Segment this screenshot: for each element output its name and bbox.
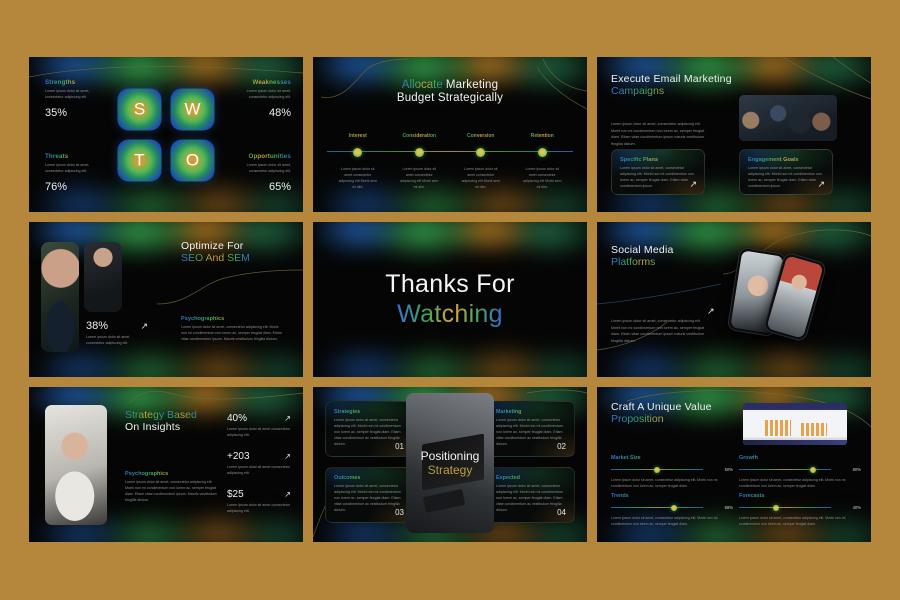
- timeline-body: Lorem ipsum dolor sit amet consectetur a…: [450, 167, 512, 191]
- title-line1: Optimize For: [181, 240, 250, 252]
- timeline-dot[interactable]: [389, 144, 451, 160]
- slider-trends[interactable]: Trends 68% Lorem ipsum dolor sit amet, c…: [611, 493, 733, 528]
- timeline-body: Lorem ipsum dolor sit amet consectetur a…: [389, 167, 451, 191]
- title-plain: Marketing: [446, 79, 498, 91]
- meeting-photo: [739, 95, 837, 141]
- arrow-up-right-icon[interactable]: ↗: [689, 180, 697, 189]
- title-line2: On Insights: [125, 421, 197, 433]
- slide-body-text: Lorem ipsum dolor sit amet, consectetur …: [611, 121, 709, 148]
- slider-label: Market Size: [611, 455, 733, 461]
- swot-label: Strengths: [45, 79, 105, 86]
- slide-swot[interactable]: Strengths Lorem ipsum dolor sit amet, co…: [29, 57, 303, 212]
- card-engagement-goals[interactable]: Engagement Goals Lorem ipsum dolor sit a…: [739, 149, 833, 195]
- slider-track[interactable]: 80%: [739, 465, 861, 474]
- center-line2: Strategy: [313, 463, 587, 477]
- timeline-dots: [327, 144, 573, 160]
- card-title: Marketing: [496, 409, 566, 415]
- slider-label: Trends: [611, 493, 733, 499]
- swot-percent: 76%: [45, 181, 105, 193]
- swot-letter: W: [184, 99, 200, 119]
- portrait-photo: [45, 405, 107, 525]
- swot-tile-t: T: [118, 139, 162, 181]
- slider-body: Lorem ipsum dolor sit amet, consectetur …: [611, 516, 733, 528]
- card-title: Specific Plans: [620, 157, 696, 163]
- card-body: Lorem ipsum dolor sit amet, consectetur …: [748, 166, 824, 190]
- slide-deck-grid: Strengths Lorem ipsum dolor sit amet, co…: [29, 57, 871, 542]
- swot-label: Threats: [45, 153, 105, 160]
- card-title: Strategies: [334, 409, 404, 415]
- arrow-up-right-icon[interactable]: ↗: [817, 180, 825, 189]
- stat-value: 38%: [86, 320, 108, 332]
- slider-growth[interactable]: Growth 80% Lorem ipsum dolor sit amet, c…: [739, 455, 861, 490]
- seo-stat-block: 38% ↗ Lorem ipsum dolor sit amet consect…: [86, 320, 148, 347]
- slide-title: Optimize For SEO And SEM: [181, 240, 250, 264]
- swot-item-opportunities: Opportunities Lorem ipsum dolor sit amet…: [231, 153, 291, 193]
- swot-body: Lorem ipsum dolor sit amet, consectetur …: [231, 163, 291, 175]
- stat-item-1: 40%↗ Lorem ipsum dolor sit amet consecte…: [227, 413, 291, 439]
- swot-letter: O: [186, 150, 199, 170]
- slider-body: Lorem ipsum dolor sit amet, consectetur …: [611, 478, 733, 490]
- card-body: Lorem ipsum dolor sit amet, consectetur …: [620, 166, 696, 190]
- timeline-label: Interest: [327, 133, 389, 139]
- swot-percent: 65%: [231, 181, 291, 193]
- swot-item-threats: Threats Lorem ipsum dolor sit amet, cons…: [45, 153, 105, 193]
- timeline-label: Retention: [512, 133, 574, 139]
- slide-value-proposition[interactable]: Craft A Unique Value Proposition Market …: [597, 387, 871, 542]
- slide-budget-timeline[interactable]: Allocate Marketing Budget Strategically …: [313, 57, 587, 212]
- slider-line: [739, 507, 831, 508]
- slide-title: Social Media Platforms: [611, 244, 674, 268]
- card-title: Engagement Goals: [748, 157, 824, 163]
- title-line1: Craft A Unique Value: [611, 401, 712, 413]
- slide-positioning-strategy[interactable]: Strategies Lorem ipsum dolor sit amet, c…: [313, 387, 587, 542]
- title-line2: Platforms: [611, 256, 674, 268]
- bottom-glow: [597, 343, 871, 377]
- portrait-photo-1: [41, 242, 79, 352]
- swot-letter: S: [134, 99, 145, 119]
- slider-line: [611, 507, 703, 508]
- timeline-body: Lorem ipsum dolor sit amet consectetur a…: [327, 167, 389, 191]
- swot-body: Lorem ipsum dolor sit amet, consectetur …: [45, 163, 105, 175]
- slide-thanks[interactable]: Thanks For Watching: [313, 222, 587, 377]
- center-line1: Positioning: [313, 449, 587, 463]
- timeline-descriptions: Lorem ipsum dolor sit amet consectetur a…: [327, 167, 573, 191]
- slider-market-size[interactable]: Market Size 50% Lorem ipsum dolor sit am…: [611, 455, 733, 490]
- card-body: Lorem ipsum dolor sit amet, consectetur …: [334, 484, 404, 514]
- section-body: Lorem ipsum dolor sit amet, consectetur …: [125, 480, 217, 504]
- arrow-up-right-icon[interactable]: ↗: [140, 321, 148, 332]
- timeline-body: Lorem ipsum dolor sit amet consectetur a…: [512, 167, 574, 191]
- slider-knob[interactable]: [671, 505, 677, 511]
- stat-body: Lorem ipsum dolor sit amet consectetur a…: [227, 427, 291, 439]
- timeline-dot[interactable]: [450, 144, 512, 160]
- section-title: Psychographics: [181, 316, 285, 322]
- slider-forecasts[interactable]: Forecasts 40% Lorem ipsum dolor sit amet…: [739, 493, 861, 528]
- swot-tile-s: S: [118, 88, 162, 130]
- slider-line: [739, 469, 831, 470]
- arrow-up-right-icon[interactable]: ↗: [284, 414, 291, 423]
- title-line2: Campaigns: [611, 85, 732, 97]
- slider-knob[interactable]: [810, 467, 816, 473]
- swot-percent: 48%: [231, 107, 291, 119]
- slide-body-text: Lorem ipsum dolor sit amet, consectetur …: [611, 318, 709, 345]
- swot-body: Lorem ipsum dolor sit amet, consectetur …: [231, 89, 291, 101]
- card-specific-plans[interactable]: Specific Plans Lorem ipsum dolor sit ame…: [611, 149, 705, 195]
- swot-letter: T: [134, 150, 144, 170]
- slider-percent: 40%: [853, 505, 861, 510]
- timeline-label: Conversion: [450, 133, 512, 139]
- slider-track[interactable]: 40%: [739, 503, 861, 512]
- slider-knob[interactable]: [773, 505, 779, 511]
- stat-body: Lorem ipsum dolor sit amet consectetur a…: [227, 465, 291, 477]
- title-line2: Proposition: [611, 413, 712, 425]
- timeline-dot[interactable]: [327, 144, 389, 160]
- timeline-label: Consideration: [389, 133, 451, 139]
- swot-label: Weaknesses: [231, 79, 291, 86]
- dashboard-photo: [743, 403, 847, 445]
- slide-social-media[interactable]: Social Media Platforms ↗ Lorem ipsum dol…: [597, 222, 871, 377]
- card-number: 04: [557, 508, 566, 517]
- slide-strategy-insights[interactable]: Strategy Based On Insights Psychographic…: [29, 387, 303, 542]
- portrait-photo-2: [84, 242, 122, 312]
- thanks-text-block: Thanks For Watching: [313, 222, 587, 377]
- thanks-line2: Watching: [397, 300, 503, 329]
- thanks-line1: Thanks For: [385, 270, 514, 299]
- slider-track[interactable]: 68%: [611, 503, 733, 512]
- slide-title: Strategy Based On Insights: [125, 409, 197, 433]
- slide-title: Allocate Marketing Budget Strategically: [313, 79, 587, 104]
- stat-body: Lorem ipsum dolor sit amet consectetur a…: [86, 335, 148, 347]
- center-title: Positioning Strategy: [313, 449, 587, 477]
- psychographics-block: Psychographics Lorem ipsum dolor sit ame…: [125, 471, 217, 504]
- swot-percent: 35%: [45, 107, 105, 119]
- slide-seo-sem[interactable]: 38% ↗ Lorem ipsum dolor sit amet consect…: [29, 222, 303, 377]
- title-line1: Social Media: [611, 244, 674, 256]
- swot-tile-w: W: [171, 88, 215, 130]
- title-line1: Execute Email Marketing: [611, 73, 732, 85]
- swot-body: Lorem ipsum dolor sit amet, consectetur …: [45, 89, 105, 101]
- section-title: Psychographics: [125, 471, 217, 477]
- card-body: Lorem ipsum dolor sit amet, consectetur …: [496, 484, 566, 514]
- title-accent2: Based: [167, 409, 197, 421]
- timeline-bar: [327, 144, 573, 160]
- slider-body: Lorem ipsum dolor sit amet, consectetur …: [739, 478, 861, 490]
- slide-email-marketing[interactable]: Execute Email Marketing Campaigns Lorem …: [597, 57, 871, 212]
- title-accent: Allocate: [402, 79, 446, 91]
- timeline-dot[interactable]: [512, 144, 574, 160]
- card-body: Lorem ipsum dolor sit amet, consectetur …: [496, 418, 566, 448]
- slider-body: Lorem ipsum dolor sit amet, consectetur …: [739, 516, 861, 528]
- slider-label: Growth: [739, 455, 861, 461]
- swot-label: Opportunities: [231, 153, 291, 160]
- stat-item-3: $25↗ Lorem ipsum dolor sit amet consecte…: [227, 489, 291, 515]
- timeline: Interest Consideration Conversion Retent…: [327, 133, 573, 191]
- slider-percent: 80%: [853, 467, 861, 472]
- slider-percent: 50%: [725, 467, 733, 472]
- slide-title: Craft A Unique Value Proposition: [611, 401, 712, 425]
- card-body: Lorem ipsum dolor sit amet, consectetur …: [334, 418, 404, 448]
- slider-knob[interactable]: [654, 467, 660, 473]
- stat-item-2: +203↗ Lorem ipsum dolor sit amet consect…: [227, 451, 291, 477]
- slider-percent: 68%: [725, 505, 733, 510]
- stat-value: $25: [227, 489, 244, 500]
- title-accent: Strategy: [125, 409, 167, 421]
- psychographics-block: Psychographics Lorem ipsum dolor sit ame…: [181, 316, 285, 343]
- section-body: Lorem ipsum dolor sit amet, consectetur …: [181, 325, 285, 343]
- slide-title: Execute Email Marketing Campaigns: [611, 73, 732, 97]
- swot-letter-grid: S W T O: [118, 88, 215, 181]
- slider-track[interactable]: 50%: [611, 465, 733, 474]
- arrow-up-right-icon[interactable]: ↗: [284, 452, 291, 461]
- stat-body: Lorem ipsum dolor sit amet consectetur a…: [227, 503, 291, 515]
- arrow-up-right-icon[interactable]: ↗: [707, 306, 715, 317]
- title-line2: Budget Strategically: [313, 92, 587, 104]
- timeline-labels: Interest Consideration Conversion Retent…: [327, 133, 573, 139]
- slider-label: Forecasts: [739, 493, 861, 499]
- title-line2: SEO And SEM: [181, 252, 250, 264]
- swot-item-weaknesses: Weaknesses Lorem ipsum dolor sit amet, c…: [231, 79, 291, 119]
- stat-value: +203: [227, 451, 250, 462]
- stat-value: 40%: [227, 413, 247, 424]
- swot-tile-o: O: [171, 139, 215, 181]
- arrow-up-right-icon[interactable]: ↗: [284, 490, 291, 499]
- swot-item-strengths: Strengths Lorem ipsum dolor sit amet, co…: [45, 79, 105, 119]
- card-number: 03: [395, 508, 404, 517]
